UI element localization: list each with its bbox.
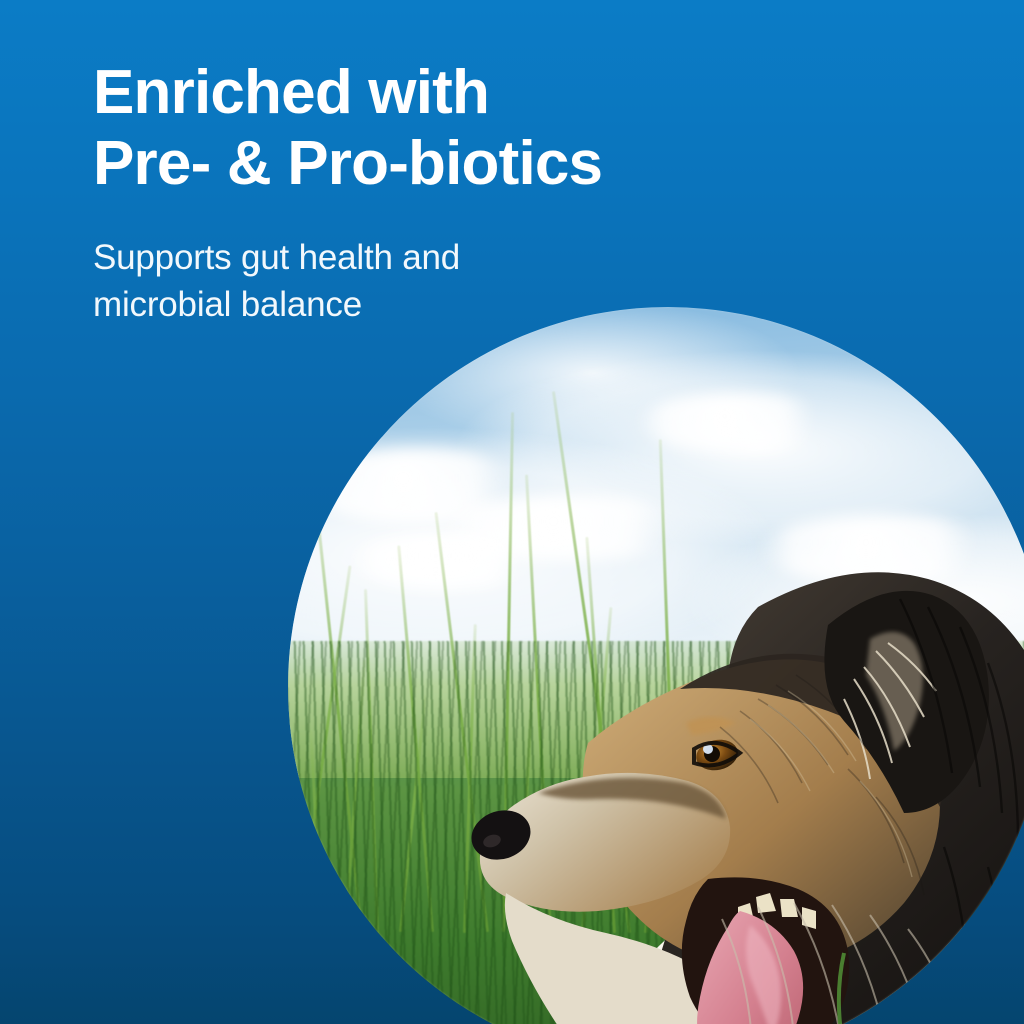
dog-photo-circle [288,307,1024,1024]
page-title: Enriched with Pre- & Pro-biotics [93,58,813,199]
photo-inner [288,307,1024,1024]
dog-subject [288,307,1024,1024]
copy-block: Enriched with Pre- & Pro-biotics Support… [93,58,813,328]
product-feature-banner: Enriched with Pre- & Pro-biotics Support… [0,0,1024,1024]
subheadline: Supports gut health and microbial balanc… [93,235,813,328]
